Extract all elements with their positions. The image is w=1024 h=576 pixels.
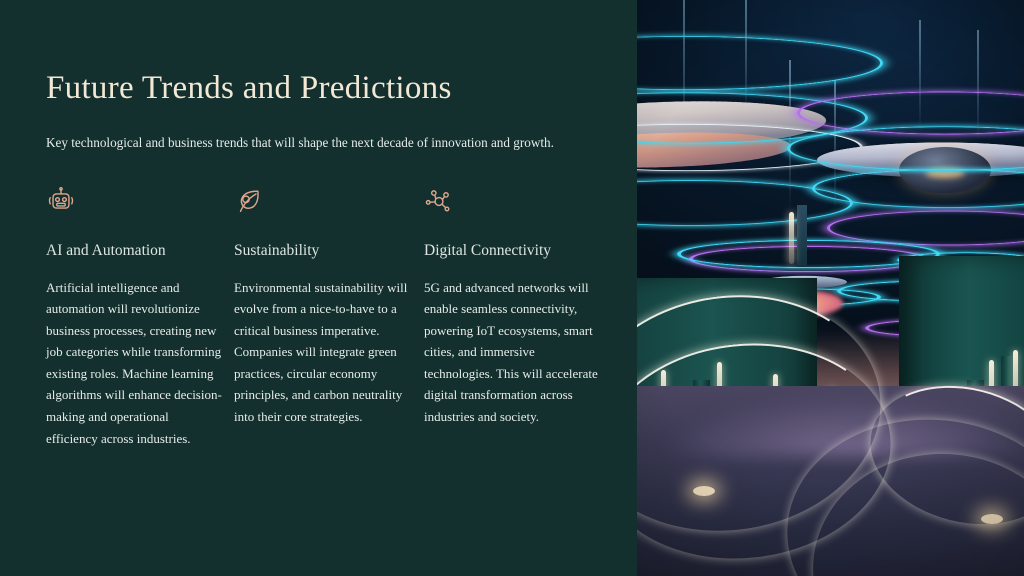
feature-column-ai-and-automation: AI and Automation Artificial intelligenc… (46, 186, 236, 449)
futuristic-city-image (637, 0, 1024, 576)
feature-column-digital-connectivity: Digital Connectivity 5G and advanced net… (424, 186, 614, 449)
feature-columns: AI and Automation Artificial intelligenc… (46, 186, 607, 449)
page-subtitle: Key technological and business trends th… (46, 131, 591, 154)
vignette-overlay (637, 0, 1024, 576)
feature-title: Sustainability (234, 242, 424, 261)
content-pane: Future Trends and Predictions Key techno… (0, 0, 637, 576)
feature-body: Artificial intelligence and automation w… (46, 277, 222, 450)
feature-title: Digital Connectivity (424, 242, 614, 261)
network-nodes-icon (424, 186, 460, 222)
robot-icon (46, 186, 82, 222)
feature-body: 5G and advanced networks will enable sea… (424, 277, 604, 428)
leaf-icon (234, 186, 270, 222)
page-title: Future Trends and Predictions (46, 70, 452, 106)
feature-column-sustainability: Sustainability Environmental sustainabil… (234, 186, 424, 449)
slide: Future Trends and Predictions Key techno… (0, 0, 1024, 576)
feature-title: AI and Automation (46, 242, 236, 261)
feature-body: Environmental sustainability will evolve… (234, 277, 410, 428)
